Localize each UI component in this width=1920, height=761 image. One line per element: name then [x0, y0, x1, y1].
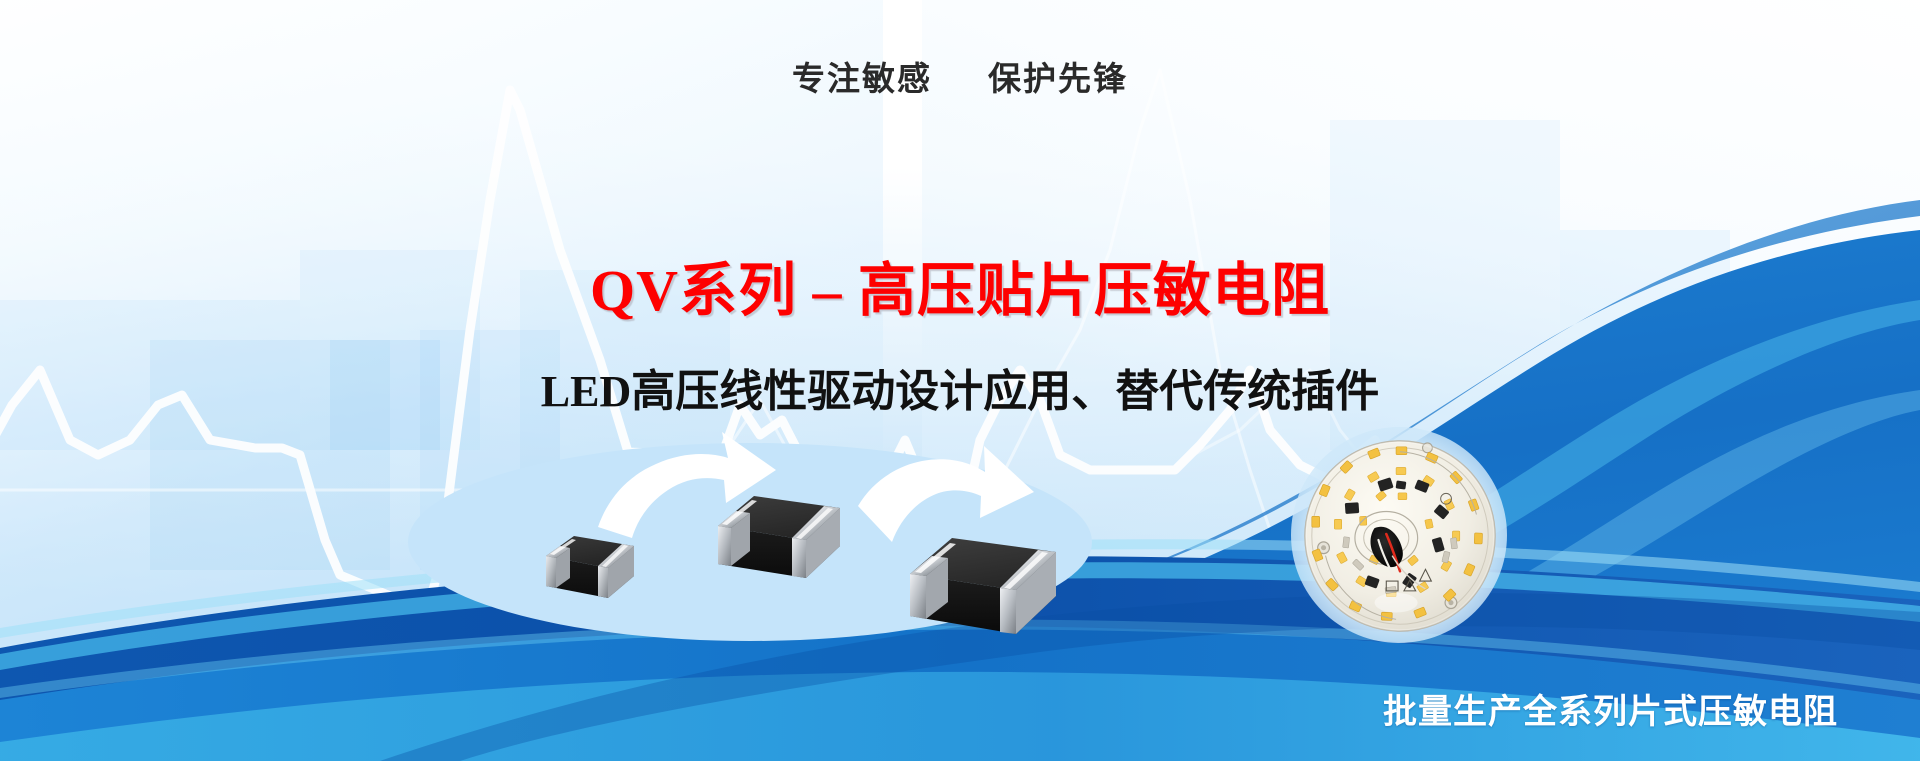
smd-varistor-medium — [700, 478, 860, 600]
tagline-part-1: 专注敏感 — [792, 62, 932, 98]
product-headline: QV系列 – 高压贴片压敏电阻 — [0, 243, 1920, 327]
led-pcb-module-photo — [1302, 438, 1498, 634]
company-tagline: 专注敏感保护先锋 — [0, 52, 1920, 100]
production-footnote: 批量生产全系列片式压敏电阻 — [1383, 684, 1838, 733]
product-banner: 专注敏感保护先锋 QV系列 – 高压贴片压敏电阻 LED高压线性驱动设计应用、替… — [0, 0, 1920, 761]
product-subtitle: LED高压线性驱动设计应用、替代传统插件 — [0, 355, 1920, 419]
smd-varistor-large — [890, 518, 1080, 658]
tagline-part-2: 保护先锋 — [988, 62, 1128, 98]
smd-varistor-small — [530, 520, 650, 616]
